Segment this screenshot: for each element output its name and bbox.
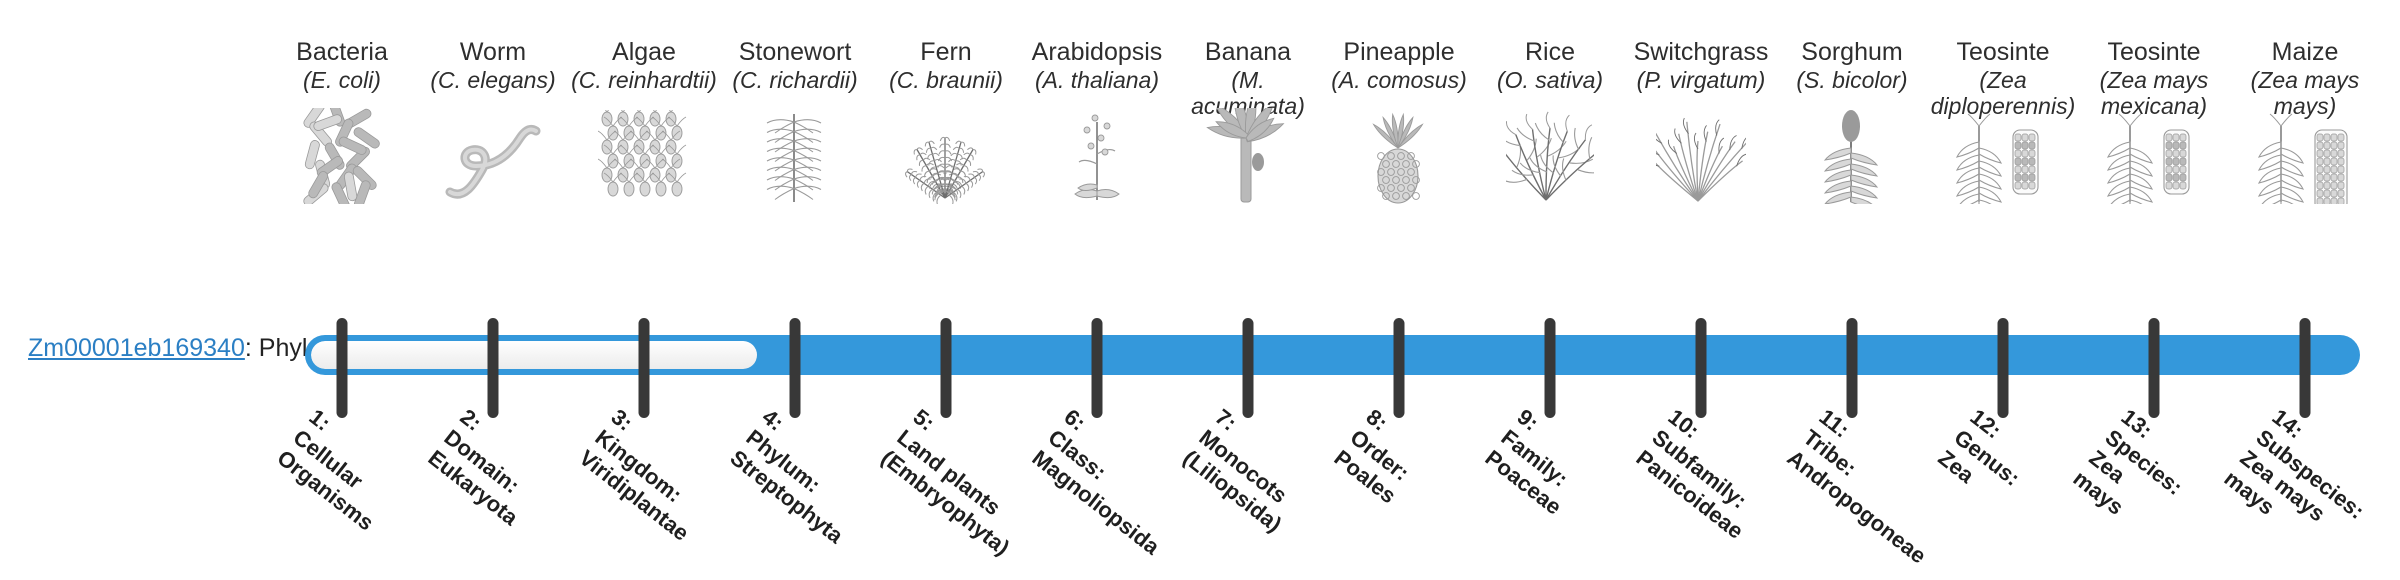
timeline-tick[interactable] — [2149, 318, 2160, 418]
timeline-tick[interactable] — [488, 318, 499, 418]
timeline-bar-unfilled-outline — [306, 336, 763, 374]
timeline — [0, 0, 2400, 580]
timeline-tick[interactable] — [1545, 318, 1556, 418]
timeline-tick[interactable] — [1998, 318, 2009, 418]
timeline-tick[interactable] — [2300, 318, 2311, 418]
timeline-tick[interactable] — [1847, 318, 1858, 418]
timeline-tick[interactable] — [941, 318, 952, 418]
timeline-tick[interactable] — [1696, 318, 1707, 418]
timeline-tick[interactable] — [639, 318, 650, 418]
timeline-tick[interactable] — [1092, 318, 1103, 418]
timeline-tick[interactable] — [1394, 318, 1405, 418]
timeline-tick[interactable] — [790, 318, 801, 418]
timeline-tick[interactable] — [1243, 318, 1254, 418]
timeline-tick[interactable] — [337, 318, 348, 418]
phylostratum-timeline: Zm00001eb169340: Phylostratum 4 Bacteria… — [0, 0, 2400, 580]
